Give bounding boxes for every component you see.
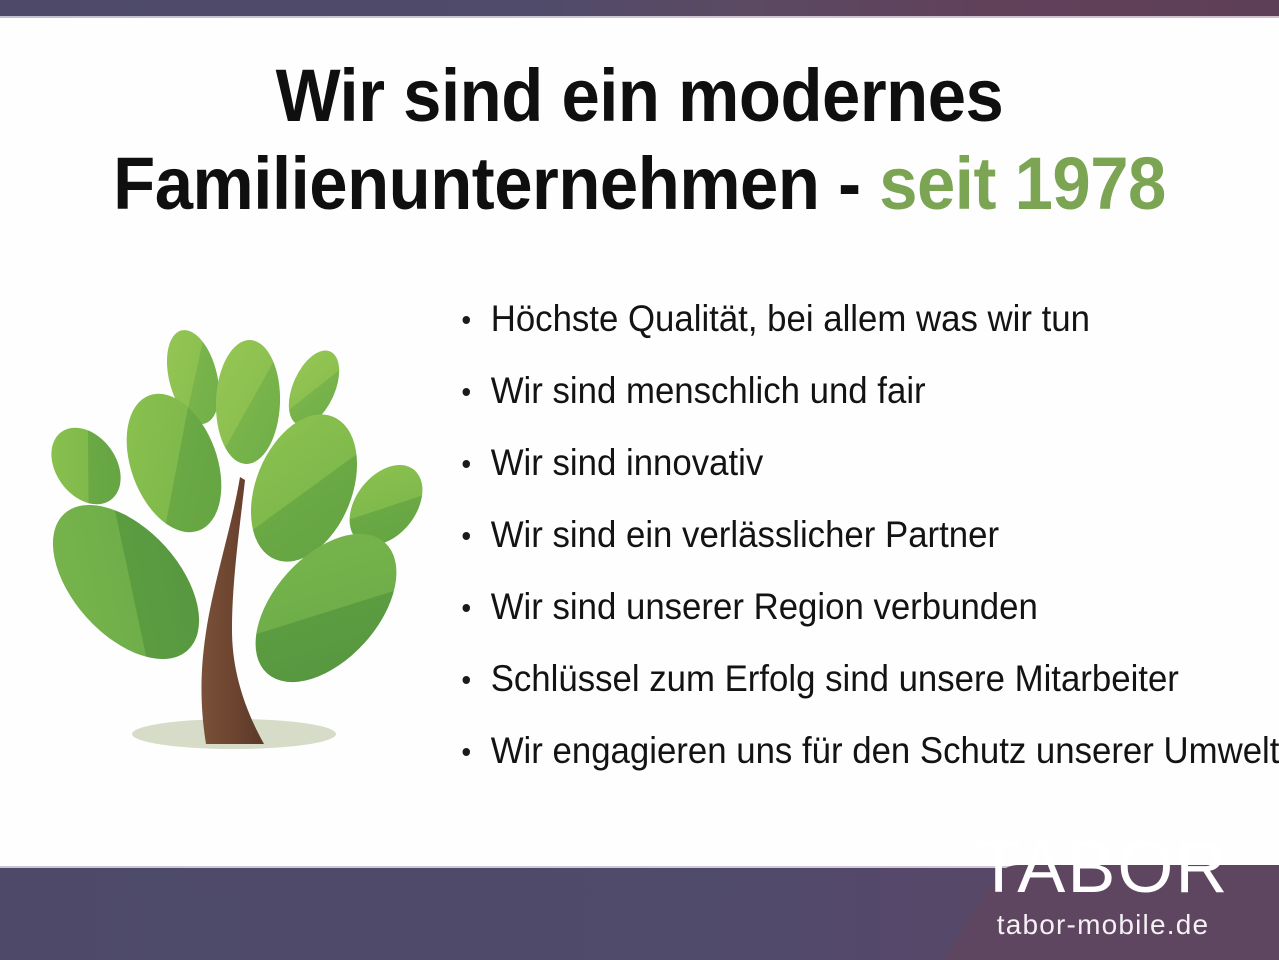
list-item-label: Schlüssel zum Erfolg sind unsere Mitarbe…: [491, 658, 1179, 699]
top-decorative-bar: [0, 0, 1279, 16]
value-list: Höchste Qualität, bei allem was wir tun …: [455, 300, 1275, 804]
page-title: Wir sind ein modernes Familienunternehme…: [45, 52, 1234, 228]
list-item-label: Wir sind unserer Region verbunden: [491, 586, 1038, 627]
list-item: Wir sind menschlich und fair: [455, 372, 1226, 410]
list-item-label: Wir sind ein verlässlicher Partner: [491, 514, 999, 555]
list-item: Wir sind innovativ: [455, 444, 1226, 482]
page-title-line-2-prefix: Familienunternehmen -: [113, 142, 879, 225]
list-item: Höchste Qualität, bei allem was wir tun: [455, 300, 1226, 338]
bottom-decorative-bar: [0, 868, 1279, 960]
list-item-label: Wir sind innovativ: [491, 442, 764, 483]
list-item-label: Wir engagieren uns für den Schutz unsere…: [491, 730, 1279, 771]
page-title-line-2: Familienunternehmen - seit 1978: [45, 140, 1234, 228]
list-item: Wir sind unserer Region verbunden: [455, 588, 1226, 626]
list-item: Wir sind ein verlässlicher Partner: [455, 516, 1226, 554]
list-item: Schlüssel zum Erfolg sind unsere Mitarbe…: [455, 660, 1226, 698]
page-title-line-1: Wir sind ein modernes: [45, 52, 1234, 140]
tree-icon: [26, 330, 438, 760]
list-item-label: Wir sind menschlich und fair: [491, 370, 926, 411]
page-title-accent: seit 1978: [879, 142, 1166, 225]
slide-canvas: Wir sind ein modernes Familienunternehme…: [0, 0, 1279, 960]
list-item: Wir engagieren uns für den Schutz unsere…: [455, 732, 1226, 770]
list-item-label: Höchste Qualität, bei allem was wir tun: [491, 298, 1090, 339]
